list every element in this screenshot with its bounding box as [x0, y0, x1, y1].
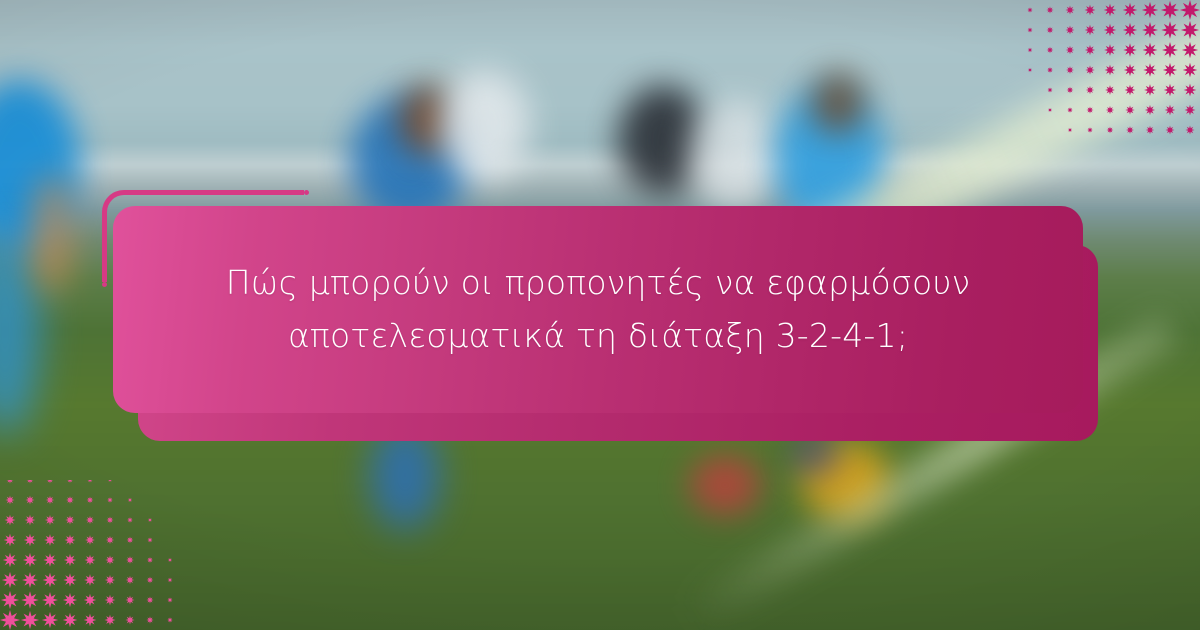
headline-card: Πώς μπορούν οι προπονητές να εφαρμόσουν …	[113, 206, 1083, 413]
social-card-canvas: Πώς μπορούν οι προπονητές να εφαρμόσουν …	[0, 0, 1200, 630]
page-title: Πώς μπορούν οι προπονητές να εφαρμόσουν …	[113, 257, 1083, 361]
